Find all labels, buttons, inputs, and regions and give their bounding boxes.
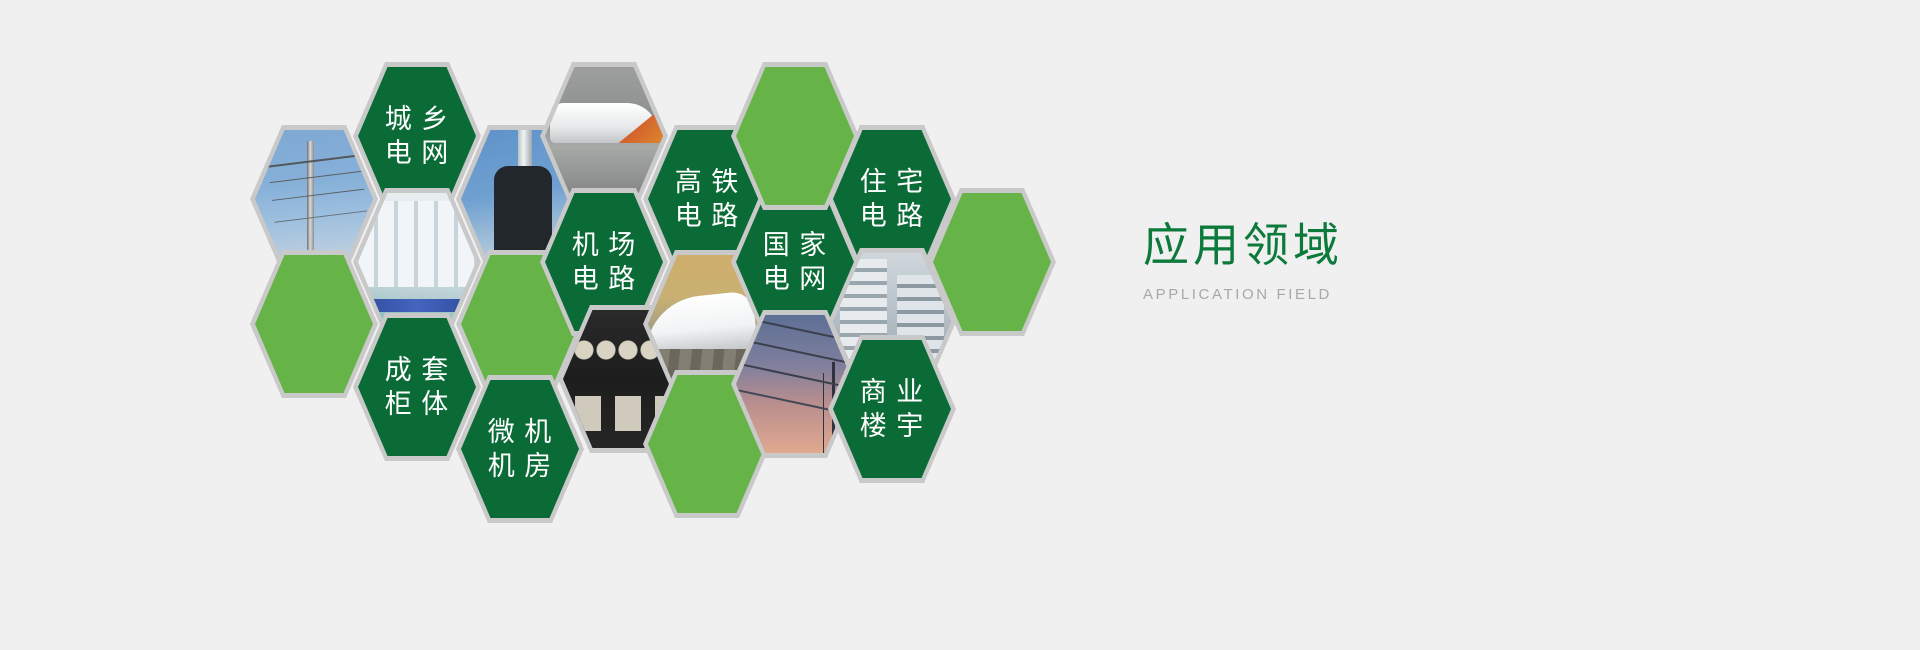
page-subtitle: APPLICATION FIELD bbox=[1143, 286, 1343, 303]
hex-label-text: 城 乡 电 网 bbox=[385, 102, 450, 170]
page-title: 应用领域 bbox=[1143, 222, 1343, 268]
hex-tile-shang-ye-lou-yu[interactable]: 商 业 楼 宇 bbox=[828, 335, 956, 483]
hex-label-text: 商 业 楼 宇 bbox=[860, 375, 925, 443]
hex-tile-solid-far-right[interactable] bbox=[928, 188, 1056, 336]
hex-label-text: 住 宅 电 路 bbox=[860, 165, 925, 233]
heading-block: 应用领域 APPLICATION FIELD bbox=[1143, 222, 1343, 303]
hex-label-text: 成 套 柜 体 bbox=[385, 353, 450, 421]
hex-label-text: 国 家 电 网 bbox=[763, 228, 828, 296]
hex-label-text: 机 场 电 路 bbox=[572, 228, 637, 296]
hex-label-text: 微 机 机 房 bbox=[488, 415, 553, 483]
application-field-banner: 城 乡 电 网成 套 柜 体微 机 机 房机 场 电 路高 铁 电 路国 家 电… bbox=[0, 0, 1920, 650]
hex-label-text: 高 铁 电 路 bbox=[675, 165, 740, 233]
